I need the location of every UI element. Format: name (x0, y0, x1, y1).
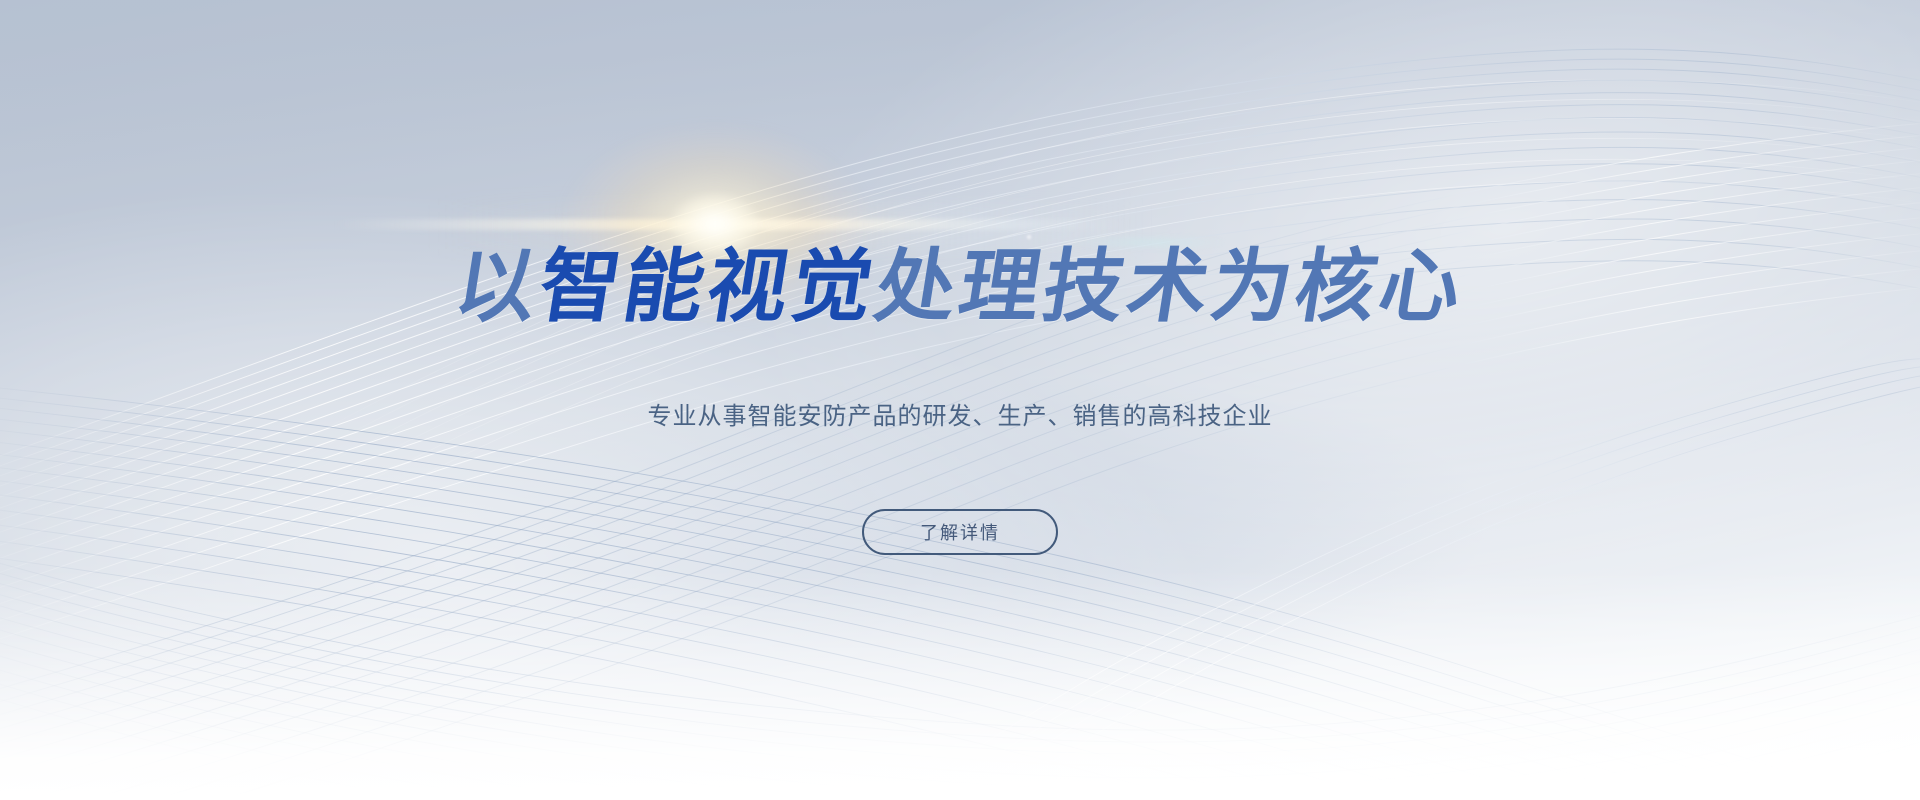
hero-headline: 以智能视觉处理技术为核心 (0, 247, 1920, 327)
hero-cta-container: 了解详情 (0, 509, 1920, 555)
lens-flare-streak-icon (330, 219, 1130, 230)
learn-more-button[interactable]: 了解详情 (862, 509, 1058, 555)
upper-right-light-sheet (528, 0, 1920, 795)
headline-segment-1: 以 (449, 240, 548, 333)
lower-left-light-sheet (0, 83, 1397, 800)
headline-segment-3: 处理技术为核心 (869, 240, 1472, 333)
hero-subtitle: 专业从事智能安防产品的研发、生产、销售的高科技企业 (0, 400, 1920, 434)
hero-banner: 以智能视觉处理技术为核心 专业从事智能安防产品的研发、生产、销售的高科技企业 了… (0, 0, 1920, 800)
top-tone-sheet (0, 0, 1920, 170)
headline-segment-2: 智能视觉 (533, 240, 884, 333)
bottom-white-fade (0, 570, 1920, 800)
